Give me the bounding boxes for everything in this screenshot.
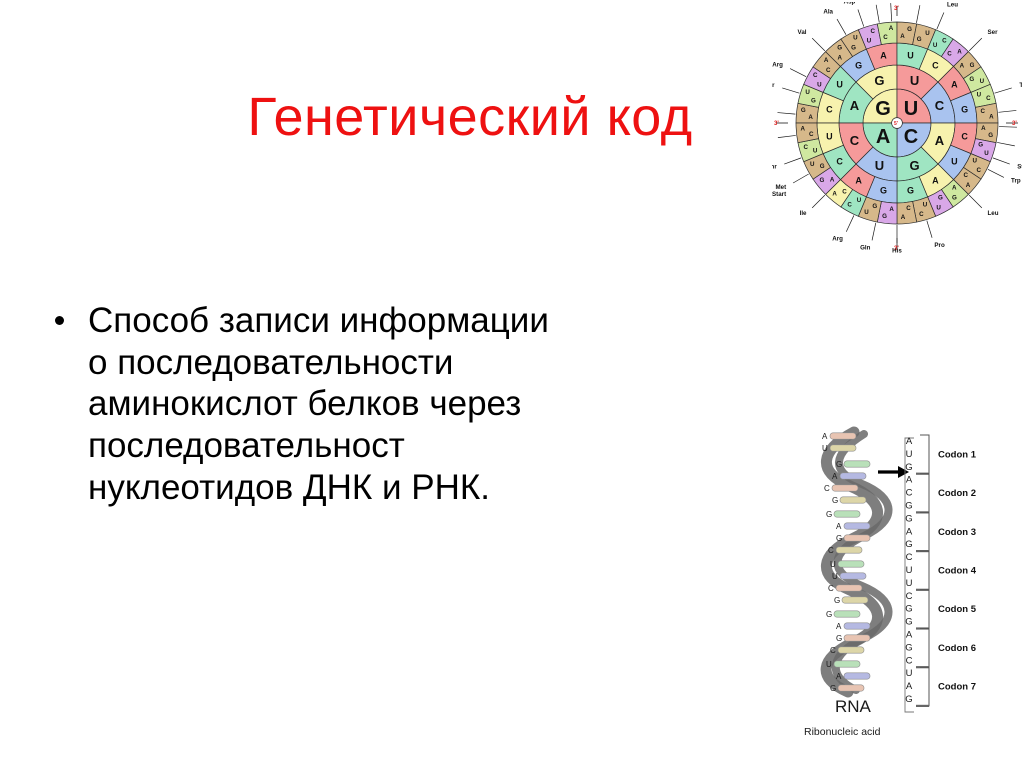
rna-base-label: C <box>828 546 834 555</box>
wheel-ring4-label: U <box>817 81 822 88</box>
wheel-amino-acid-label: MetStart <box>772 184 786 198</box>
codon-base-letter: G <box>905 501 912 512</box>
wheel-ring3-label: C <box>826 105 833 115</box>
wheel-ring3-label: G <box>880 186 887 196</box>
rna-base-label: G <box>826 610 832 619</box>
rna-base-label: A <box>836 622 842 631</box>
rna-base-label: G <box>836 460 842 469</box>
wheel-ring2-label: U <box>910 73 919 88</box>
wheel-ring2-label: G <box>874 73 884 88</box>
codon-name-label: Codon 3 <box>938 527 976 538</box>
wheel-ring4-label: U <box>972 158 977 165</box>
wheel-ring3-label: U <box>836 80 843 90</box>
wheel-ring4-label: U <box>923 201 928 208</box>
end-mark-right: 3' <box>1012 121 1017 127</box>
wheel-ring4-label: G <box>938 194 943 201</box>
wheel-ring4-label: C <box>826 67 831 74</box>
wheel-ring2-label: C <box>850 133 860 148</box>
wheel-spoke-line <box>837 19 846 35</box>
wheel-ring4-label: U <box>805 89 810 96</box>
wheel-ring4-label: C <box>883 34 888 41</box>
codon-name-labels: Codon 1Codon 2Codon 3Codon 4Codon 5Codon… <box>938 449 977 692</box>
codon-base-letter: U <box>906 449 913 460</box>
rna-base-rung <box>830 433 856 439</box>
codon-name-label: Codon 6 <box>938 643 976 654</box>
codon-bracket <box>920 512 929 551</box>
wheel-spoke-line <box>858 10 864 27</box>
codon-bracket <box>920 551 929 590</box>
wheel-amino-acid-label: Thr <box>772 163 777 170</box>
wheel-ring4-label: U <box>853 35 858 42</box>
rna-base-rung <box>840 473 866 479</box>
wheel-ring1-label: U <box>904 98 918 120</box>
wheel-ring3-label: U <box>951 156 958 166</box>
wheel-spoke-line <box>969 38 982 51</box>
wheel-ring3-label: U <box>907 50 914 60</box>
wheel-spoke-line <box>778 135 796 137</box>
rna-base-rung <box>838 685 864 691</box>
wheel-ring4-label: G <box>801 107 806 114</box>
wheel-ring4-label: A <box>952 184 957 191</box>
wheel-spoke-line <box>927 221 932 238</box>
wheel-ring4-label: A <box>800 126 805 133</box>
wheel-ring4-label: C <box>986 95 991 102</box>
wheel-ring4-label: U <box>984 150 989 157</box>
wheel-ring4-label: C <box>803 144 808 151</box>
wheel-ring4-label: A <box>966 182 971 189</box>
wheel-ring2-label: U <box>875 158 884 173</box>
wheel-ring4-label: A <box>808 114 813 121</box>
wheel-ring1-label: A <box>876 126 890 148</box>
wheel-ring3-label: A <box>855 175 862 185</box>
rna-base-label: A <box>832 472 838 481</box>
wheel-spoke-line <box>969 195 982 208</box>
wheel-ring3-label: G <box>961 105 968 115</box>
wheel-ring4-label: U <box>925 30 930 37</box>
wheel-amino-acid-label: Ile <box>800 210 807 217</box>
wheel-ring4-label: A <box>989 113 994 120</box>
codon-base-letter: G <box>905 539 912 550</box>
rna-base-rung <box>844 461 870 467</box>
rna-base-label: C <box>828 584 834 593</box>
genetic-code-wheel-figure: 3' 3' 3' 3' GUCAAGUCAGUCCUGAUCAGCUAGGACU… <box>772 2 1022 254</box>
wheel-ring4-label: A <box>889 206 894 213</box>
wheel-ring4-label: C <box>870 28 875 35</box>
wheel-ring4-label: A <box>832 190 837 197</box>
rna-base-rung <box>838 561 864 567</box>
wheel-ring4-label: U <box>864 209 869 216</box>
wheel-ring4-label: C <box>842 188 847 195</box>
rna-base-rung <box>838 647 864 653</box>
codon-bracket <box>920 435 929 474</box>
wheel-amino-acid-label: Tyr <box>1019 82 1022 89</box>
wheel-spoke-line <box>937 13 944 30</box>
codon-bracket <box>920 474 929 513</box>
wheel-ring3-label: G <box>855 61 862 71</box>
wheel-ring4-label: U <box>980 78 985 85</box>
end-mark-top: 3' <box>894 6 899 12</box>
rna-base-rung <box>834 511 860 517</box>
bullet-list: Способ записи информации о последователь… <box>44 300 744 508</box>
wheel-ring4-label: C <box>847 201 852 208</box>
rna-base-rung <box>842 597 868 603</box>
wheel-amino-acid-label: Val <box>798 29 807 36</box>
codon-base-letter: A <box>906 436 913 447</box>
wheel-amino-acid-label: Leu <box>988 210 999 217</box>
wheel-spoke-line <box>998 110 1016 112</box>
wheel-ring4-label: U <box>933 42 938 49</box>
wheel-ring4-label: G <box>811 97 816 104</box>
codon-base-letter: C <box>906 488 913 499</box>
wheel-ring4-label: C <box>947 51 952 58</box>
rna-base-rung <box>840 497 866 503</box>
rna-base-rung <box>840 573 866 579</box>
wheel-ring2-label: G <box>910 158 920 173</box>
wheel-ring4-label: A <box>957 49 962 56</box>
wheel-ring2-label: A <box>850 98 860 113</box>
wheel-amino-acid-label: Ala <box>823 9 833 16</box>
wheel-amino-acid-label: Trp <box>1011 178 1021 185</box>
wheel-ring4-label: A <box>830 177 835 184</box>
wheel-amino-acid-label: Stop <box>1017 163 1022 170</box>
wheel-ring4-label: G <box>988 132 993 139</box>
wheel-ring4-label: A <box>889 25 894 32</box>
wheel-ring3-label: A <box>951 80 958 90</box>
rna-base-label: A <box>836 672 842 681</box>
wheel-ring4-label: A <box>901 214 906 221</box>
wheel-ring2-label: C <box>935 98 945 113</box>
wheel-ring4-label: C <box>906 205 911 212</box>
rna-base-rung <box>836 585 862 591</box>
rna-base-label: G <box>836 634 842 643</box>
codon-brackets <box>916 435 929 706</box>
wheel-ring4-label: G <box>820 177 825 184</box>
codon-letter-column: AUGACGGAGCUUCGGAGCUAG <box>905 436 913 705</box>
wheel-ring4-label: G <box>820 163 825 170</box>
codon-bracket <box>920 667 929 706</box>
rna-base-label: A <box>822 432 828 441</box>
rna-base-label: G <box>826 510 832 519</box>
codon-base-letter: G <box>905 513 912 524</box>
wheel-ring3-label: A <box>880 50 887 60</box>
rna-base-label: U <box>826 660 832 669</box>
rna-base-rung <box>844 535 870 541</box>
rna-base-rung <box>834 661 860 667</box>
wheel-amino-acid-label: Ser <box>772 82 775 89</box>
wheel-ring4-label: C <box>980 108 985 115</box>
rna-base-rung <box>834 611 860 617</box>
wheel-ring4-label: U <box>936 204 941 211</box>
wheel-ring4-label: U <box>813 148 818 155</box>
codon-base-letter: G <box>905 694 912 705</box>
wheel-ring4-label: C <box>964 172 969 179</box>
wheel-ring4-label: A <box>981 125 986 132</box>
wheel-spoke-line <box>812 195 825 208</box>
codon-name-label: Codon 2 <box>938 488 976 499</box>
wheel-amino-acid-label: Gln <box>860 245 871 252</box>
wheel-spoke-line <box>997 142 1015 145</box>
wheel-spoke-line <box>988 169 1004 177</box>
wheel-spoke-line <box>891 3 892 21</box>
rna-base-label: G <box>832 496 838 505</box>
wheel-ring4-label: G <box>978 142 983 149</box>
wheel-amino-acid-label: His <box>892 248 902 255</box>
wheel-hub-label: 5' <box>894 121 898 127</box>
wheel-ring4-label: U <box>977 91 982 98</box>
codon-bracket <box>920 629 929 668</box>
rna-base-rung <box>836 547 862 553</box>
wheel-ring4-label: C <box>919 211 924 218</box>
codon-bracket <box>920 590 929 629</box>
wheel-ring1-label: C <box>904 126 918 148</box>
rna-subtitle: Ribonucleic acid <box>804 726 881 738</box>
list-item: Способ записи информации о последователь… <box>44 300 744 508</box>
wheel-ring4-label: G <box>969 76 974 83</box>
wheel-ring3-label: U <box>826 131 833 141</box>
codon-base-letter: G <box>905 617 912 628</box>
rna-base-label: A <box>836 522 842 531</box>
wheel-spoke-line <box>872 223 876 241</box>
rna-base-label: U <box>832 572 838 581</box>
codon-base-letter: C <box>906 552 913 563</box>
codon-base-letter: C <box>906 655 913 666</box>
wheel-ring3-label: A <box>932 175 939 185</box>
wheel-ring2-label: A <box>935 133 945 148</box>
wheel-ring4-label: C <box>942 38 947 45</box>
rna-title: RNA <box>835 697 872 716</box>
codon-base-letter: U <box>906 578 913 589</box>
codon-name-label: Codon 7 <box>938 682 976 693</box>
codon-base-letter: U <box>906 565 913 576</box>
wheel-ring4-label: A <box>900 33 905 40</box>
wheel-ring4-label: G <box>837 44 842 51</box>
codon-base-letter: U <box>906 668 913 679</box>
wheel-spoke-line <box>916 5 919 23</box>
wheel-ring4-label: A <box>824 57 829 64</box>
wheel-ring4-label: G <box>882 213 887 220</box>
wheel-ring4-label: U <box>857 197 862 204</box>
rna-base-label: G <box>834 596 840 605</box>
wheel-amino-acid-label: Arg <box>772 61 783 68</box>
wheel-amino-acid-label: Leu <box>947 2 958 9</box>
wheel-spoke-line <box>777 113 795 115</box>
wheel-amino-acid-label: Asp <box>844 2 856 5</box>
wheel-amino-acid-label: Arg <box>832 236 843 243</box>
rna-base-label: U <box>830 560 836 569</box>
wheel-ring3-label: G <box>907 186 914 196</box>
wheel-ring4-label: G <box>872 203 877 210</box>
wheel-spoke-line <box>812 38 825 51</box>
codon-name-label: Codon 5 <box>938 604 977 615</box>
rna-base-rung <box>844 673 870 679</box>
codon-base-letter: A <box>906 630 913 641</box>
wheel-ring3-label: C <box>961 131 968 141</box>
rna-base-label: G <box>836 534 842 543</box>
rna-base-rung <box>844 623 870 629</box>
codon-base-letter: G <box>905 642 912 653</box>
wheel-spoke-line <box>846 215 854 231</box>
wheel-ring4-label: A <box>960 62 965 69</box>
wheel-spoke-line <box>993 158 1010 164</box>
rna-base-rung <box>844 635 870 641</box>
wheel-spoke-line <box>876 5 879 23</box>
wheel-spoke-line <box>995 88 1012 93</box>
codon-base-letter: A <box>906 475 913 486</box>
wheel-ring4-label: C <box>977 167 982 174</box>
rna-base-label: U <box>822 444 828 453</box>
rna-base-rung <box>830 445 856 451</box>
codon-base-letter: G <box>905 604 912 615</box>
bullet-dot-icon <box>55 316 64 325</box>
wheel-amino-acid-label: Ser <box>988 29 999 36</box>
wheel-ring4-label: C <box>813 72 818 79</box>
end-mark-left: 3' <box>774 121 779 127</box>
rna-codon-figure: AUGACGGAGCUUCGGAGCUAG AUGACGGAGCUUCGGAGC… <box>802 420 1017 740</box>
rna-base-label: C <box>824 484 830 493</box>
wheel-spoke-line <box>782 88 799 93</box>
rna-base-label: G <box>830 684 836 693</box>
wheel-ring4-label: G <box>851 45 856 52</box>
wheel-ring4-label: G <box>907 26 912 33</box>
wheel-ring4-label: G <box>970 62 975 69</box>
bullet-text: Способ записи информации о последователь… <box>88 300 568 508</box>
codon-base-letter: A <box>906 526 913 537</box>
wheel-ring4-label: G <box>952 195 957 202</box>
rna-base-rung <box>844 523 870 529</box>
wheel-spoke-line <box>790 69 806 77</box>
codon-name-label: Codon 4 <box>938 565 977 576</box>
wheel-ring4-label: C <box>809 131 814 138</box>
codon-base-letter: G <box>905 462 912 473</box>
wheel-ring1-label: G <box>875 98 891 120</box>
wheel-ring4-label: G <box>917 36 922 43</box>
codon-name-label: Codon 1 <box>938 449 977 460</box>
rna-base-rung <box>832 485 858 491</box>
wheel-spoke-line <box>793 174 809 183</box>
wheel-ring4-label: U <box>810 161 815 168</box>
wheel-ring4-label: A <box>838 55 843 62</box>
codon-base-letter: A <box>906 681 913 692</box>
wheel-ring3-label: C <box>932 61 939 71</box>
wheel-ring4-label: U <box>867 38 872 45</box>
wheel-amino-acid-label: Pro <box>934 242 945 249</box>
codon-base-letter: C <box>906 591 913 602</box>
rna-base-label: C <box>830 646 836 655</box>
wheel-spoke-line <box>784 158 801 164</box>
wheel-ring3-label: C <box>836 156 843 166</box>
